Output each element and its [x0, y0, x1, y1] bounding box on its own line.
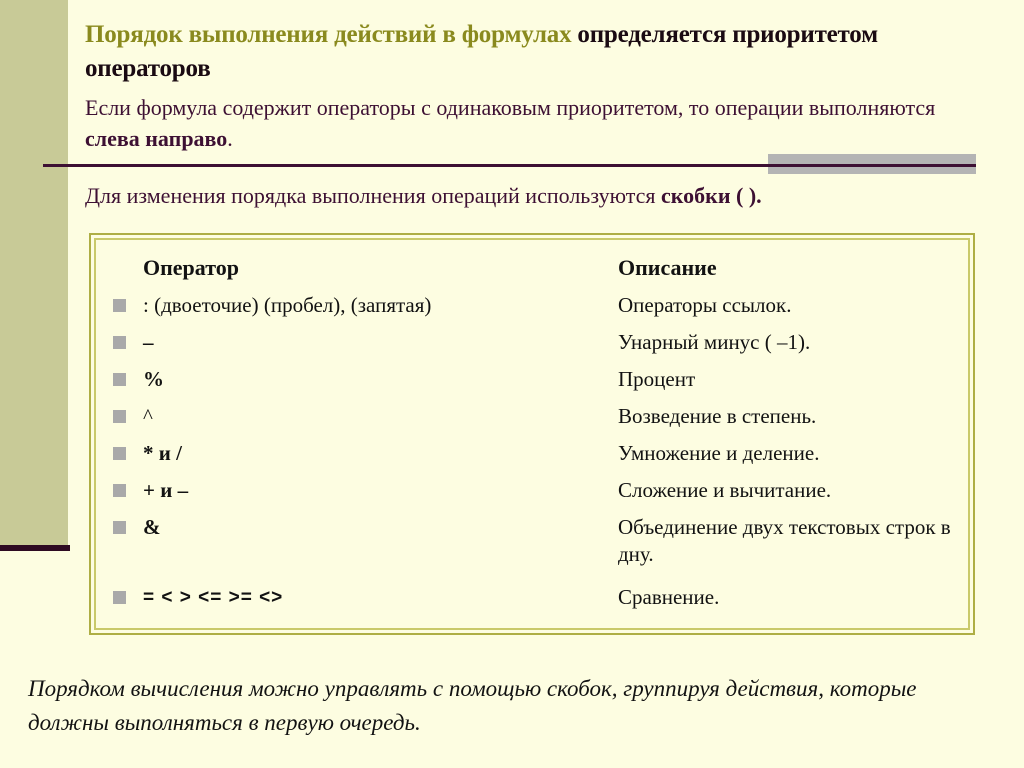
cell-description: Сложение и вычитание.: [618, 477, 958, 504]
cell-description: Сравнение.: [618, 584, 958, 611]
divider-rule: [43, 164, 976, 167]
bullet-square-icon: [113, 299, 126, 312]
bullet-square-icon: [113, 336, 126, 349]
operator-table: Оператор Описание : (двоеточие) (пробел)…: [91, 235, 977, 637]
page-title: Порядок выполнения действий в формулах о…: [85, 18, 980, 86]
cell-description: Процент: [618, 366, 958, 393]
bullet-square-icon: [113, 591, 126, 604]
cell-operator: = < > <= >= <>: [143, 584, 563, 611]
page-title-accent: Порядок выполнения действий в формулах: [85, 21, 571, 48]
column-header-operator: Оператор: [143, 255, 239, 281]
left-decorative-band: [0, 0, 68, 545]
header-paragraph-1: Если формула содержит операторы с одинак…: [85, 92, 980, 154]
header-paragraph-2-emphasis: скобки ( ).: [661, 183, 762, 208]
bullet-square-icon: [113, 410, 126, 423]
header-paragraph-2: Для изменения порядка выполнения операци…: [85, 181, 980, 211]
bullet-square-icon: [113, 373, 126, 386]
footer-note: Порядком вычисления можно управлять с по…: [28, 672, 988, 740]
cell-description: Унарный минус ( –1).: [618, 329, 958, 356]
cell-operator: : (двоеточие) (пробел), (запятая): [143, 292, 563, 319]
slide-header: Порядок выполнения действий в формулах о…: [85, 18, 980, 154]
header-paragraph-1-c: .: [227, 126, 233, 151]
cell-description: Операторы ссылок.: [618, 292, 958, 319]
cell-description: Объединение двух текстовых строк в дну.: [618, 514, 958, 568]
cell-operator: &: [143, 514, 563, 541]
header-paragraph-1-emphasis: слева направо: [85, 126, 227, 151]
cell-description: Умножение и деление.: [618, 440, 958, 467]
left-band-rule: [0, 545, 70, 551]
cell-operator: ^: [143, 403, 563, 430]
cell-operator: –: [143, 329, 563, 356]
header-paragraph-1-a: Если формула содержит операторы с одинак…: [85, 95, 935, 120]
cell-description: Возведение в степень.: [618, 403, 958, 430]
bullet-square-icon: [113, 484, 126, 497]
column-header-description: Описание: [618, 255, 717, 281]
cell-operator: + и –: [143, 477, 563, 504]
bullet-square-icon: [113, 447, 126, 460]
operator-table-panel: Оператор Описание : (двоеточие) (пробел)…: [89, 233, 975, 635]
header-paragraph-2-a: Для изменения порядка выполнения операци…: [85, 183, 661, 208]
cell-operator: %: [143, 366, 563, 393]
cell-operator: * и /: [143, 440, 563, 467]
bullet-square-icon: [113, 521, 126, 534]
